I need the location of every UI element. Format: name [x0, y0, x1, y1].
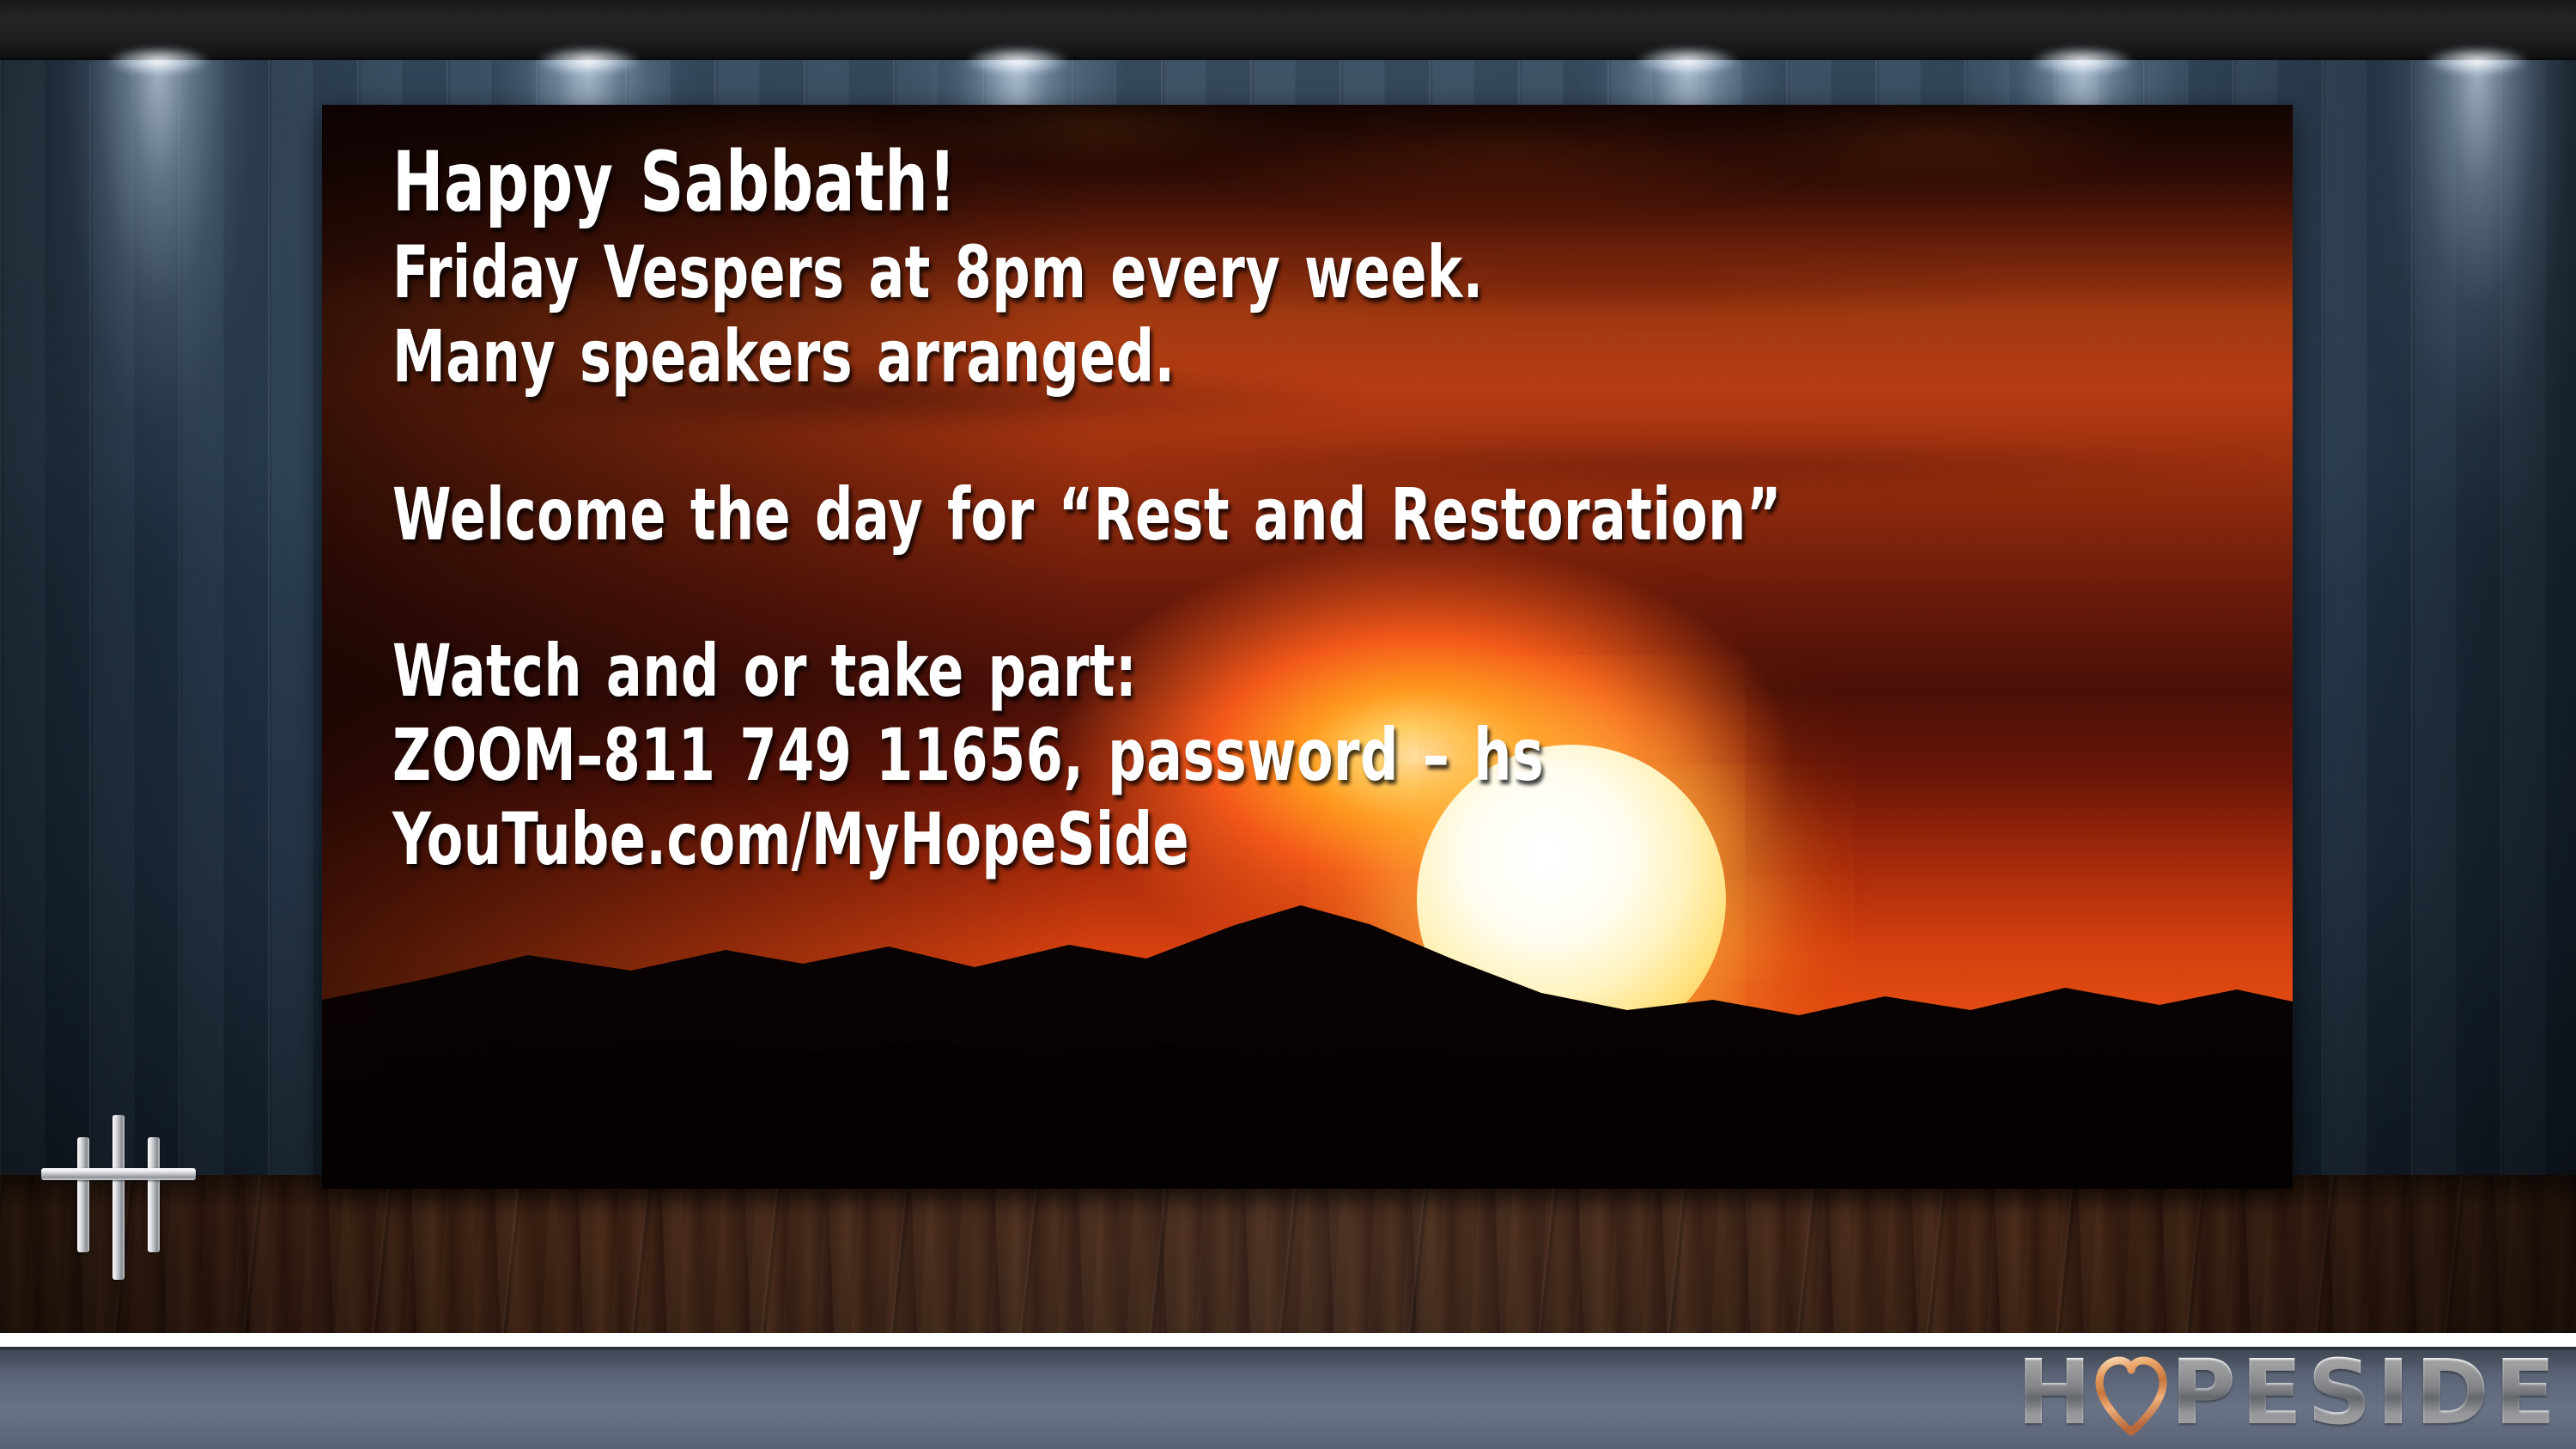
slide-line-watch: Watch and or take part: — [392, 630, 1799, 711]
hopeside-wordmark: H PESIDE — [2017, 1348, 2561, 1437]
slide-line-vespers: Friday Vespers at 8pm every week. — [392, 232, 1799, 313]
text-spacer — [392, 400, 2293, 474]
slide-line-zoom: ZOOM–811 749 11656, password – hs — [392, 715, 1799, 795]
cross-crossbar — [41, 1168, 196, 1180]
logo-letter-h: H — [2017, 1348, 2097, 1437]
heart-icon — [2093, 1351, 2169, 1434]
stage-floor — [0, 1175, 2576, 1333]
cross-post-center — [112, 1115, 125, 1280]
slide-text-block: Happy Sabbath! Friday Vespers at 8pm eve… — [322, 105, 2293, 1189]
logo-text-peside: PESIDE — [2171, 1348, 2561, 1437]
hopeside-logo: H PESIDE — [2017, 1338, 2561, 1446]
slide-line-youtube: YouTube.com/MyHopeSide — [392, 799, 1799, 880]
stage-ceiling — [0, 0, 2576, 65]
cross-post-left — [77, 1137, 89, 1252]
floor-gloss — [0, 1175, 2576, 1333]
text-spacer — [392, 558, 2293, 630]
cross-post-right — [148, 1137, 160, 1252]
slide-line-welcome: Welcome the day for “Rest and Restoratio… — [392, 474, 1799, 555]
slide-line-speakers: Many speakers arranged. — [392, 316, 1799, 397]
slide-title: Happy Sabbath! — [392, 139, 1799, 227]
presentation-slide: Happy Sabbath! Friday Vespers at 8pm eve… — [0, 0, 2576, 1449]
three-crosses-icon — [41, 1115, 196, 1287]
